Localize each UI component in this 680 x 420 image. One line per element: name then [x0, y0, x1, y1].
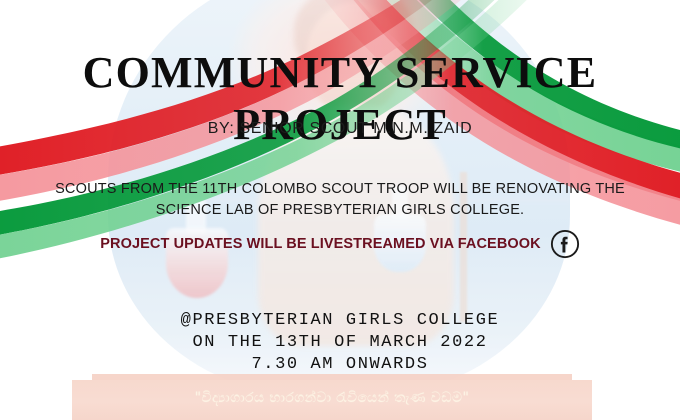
- detail-line-date: ON THE 13TH OF MARCH 2022: [0, 332, 680, 354]
- livestream-label: PROJECT UPDATES WILL BE LIVESTREAMED VIA…: [100, 236, 540, 252]
- title-line-1: COMMUNITY SERVICE: [0, 47, 680, 99]
- footer-motto: "විද්‍යාගාරය භාරගන්වා රැවියෙන් තැණ වඩම": [72, 390, 592, 406]
- byline: BY: SENIOR SCOUT M.N.M. ZAID: [0, 120, 680, 138]
- livestream-announcement: PROJECT UPDATES WILL BE LIVESTREAMED VIA…: [0, 229, 680, 259]
- body-line-2: SCIENCE LAB OF PRESBYTERIAN GIRLS COLLEG…: [40, 200, 640, 221]
- event-details: @PRESBYTERIAN GIRLS COLLEGE ON THE 13TH …: [0, 310, 680, 376]
- poster-canvas: "විද්‍යාගාරය භාරගන්වා රැවියෙන් තැණ වඩම" …: [0, 0, 680, 420]
- body-line-1: SCOUTS FROM THE 11TH COLOMBO SCOUT TROOP…: [40, 179, 640, 200]
- facebook-icon[interactable]: [550, 229, 580, 259]
- detail-line-time: 7.30 AM ONWARDS: [0, 354, 680, 376]
- detail-line-venue: @PRESBYTERIAN GIRLS COLLEGE: [0, 310, 680, 332]
- body-copy: SCOUTS FROM THE 11TH COLOMBO SCOUT TROOP…: [40, 179, 640, 221]
